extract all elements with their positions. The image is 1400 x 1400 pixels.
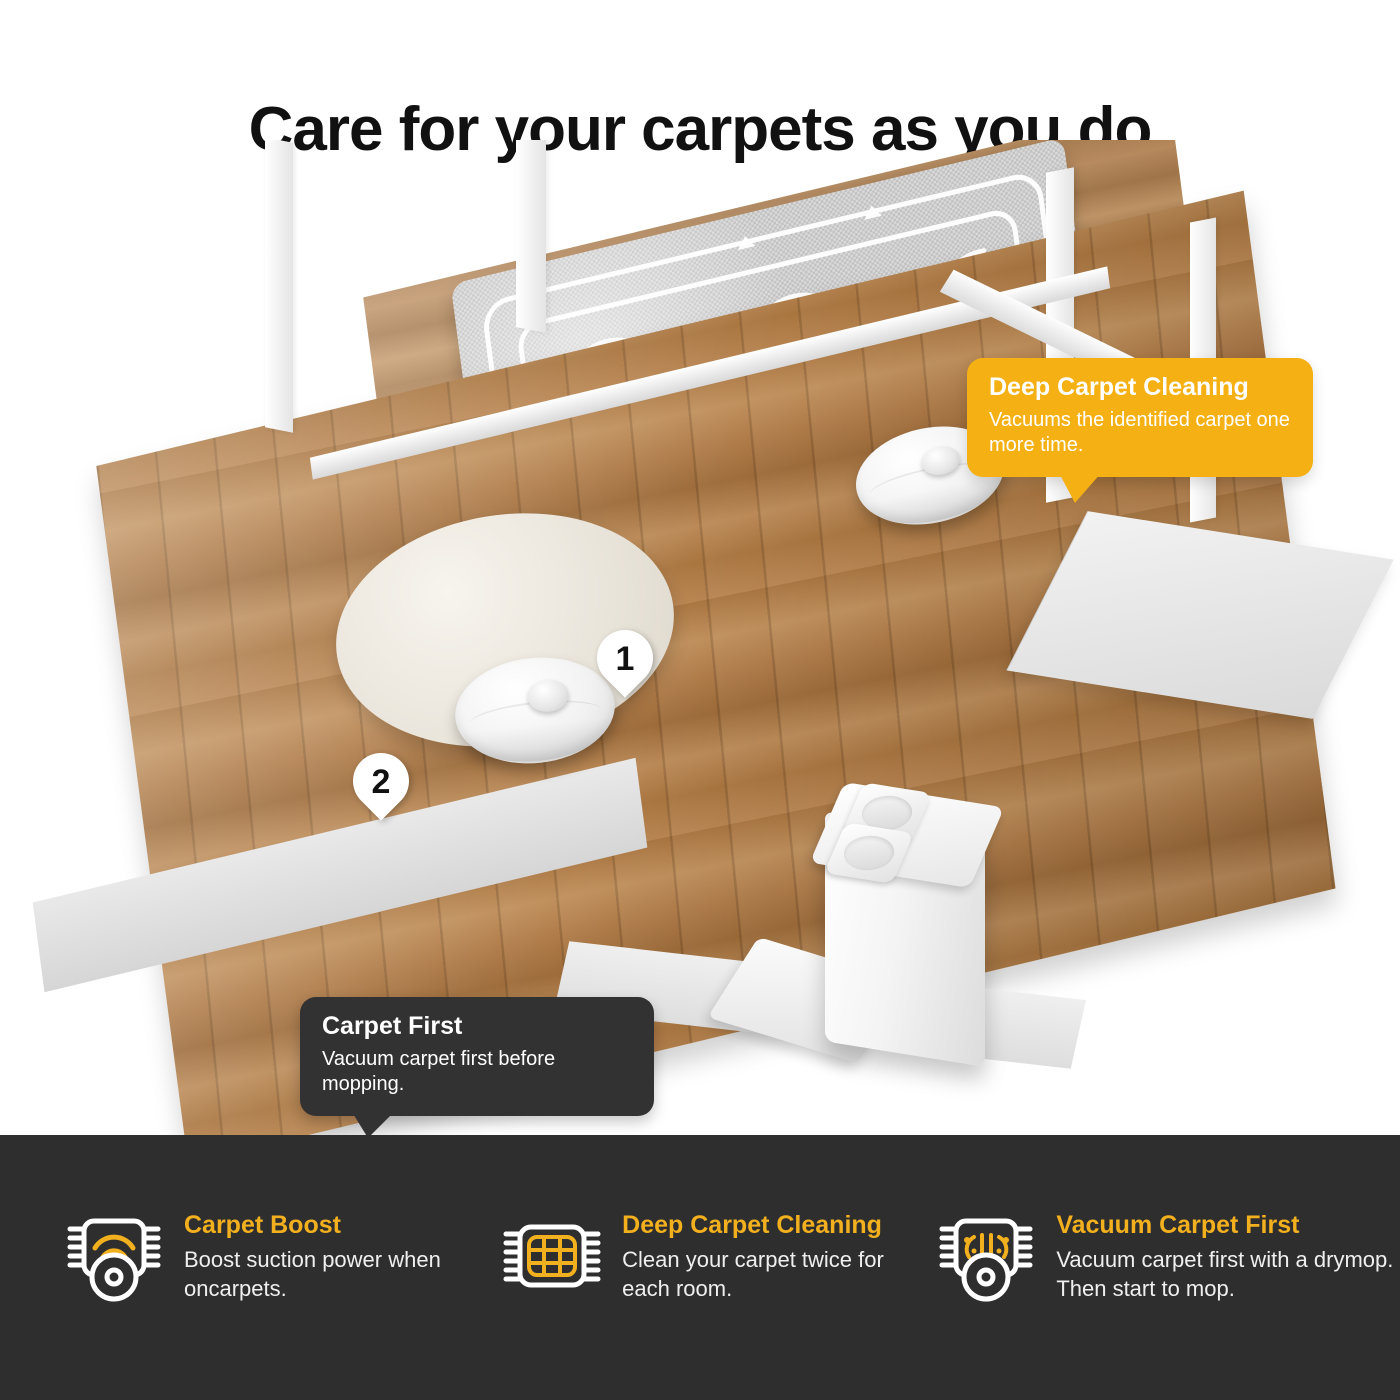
callout-carpet-first: Carpet First Vacuum carpet first before … [300,997,654,1116]
feature-carpet-boost-body: Boost suction power when oncarpets. [184,1246,478,1303]
callout-tail-dark [352,1112,394,1135]
feature-vacuum-carpet-first-body: Vacuum carpet first with a drymop. Then … [1056,1246,1400,1303]
callout-deep-carpet-cleaning: Deep Carpet Cleaning Vacuums the identif… [967,358,1313,477]
wall-post-left [265,140,293,433]
marketing-infographic: Care for your carpets as you do [0,0,1400,1400]
feature-vacuum-carpet-first: Vacuum Carpet First Vacuum carpet first … [916,1135,1400,1311]
scene-marker-2-label: 2 [353,759,409,805]
callout-tail-yellow [1055,473,1101,503]
callout-carpet-first-heading: Carpet First [322,1013,632,1041]
feature-carpet-boost: Carpet Boost Boost suction power when on… [0,1135,478,1311]
vacuum-carpet-first-icon [934,1207,1038,1311]
feature-deep-carpet-cleaning: Deep Carpet Cleaning Clean your carpet t… [478,1135,916,1311]
feature-vacuum-carpet-first-heading: Vacuum Carpet First [1056,1211,1400,1240]
callout-deep-carpet-cleaning-heading: Deep Carpet Cleaning [989,374,1291,402]
feature-deep-carpet-cleaning-body: Clean your carpet twice for each room. [622,1246,916,1303]
scene-marker-1-label: 1 [597,636,653,682]
callout-deep-carpet-cleaning-body: Vacuums the identified carpet one more t… [989,408,1291,459]
wall-post-mid [516,140,546,333]
scene-marker-1: 1 [597,630,653,702]
deep-carpet-cleaning-icon [500,1207,604,1311]
scene-marker-2: 2 [353,753,409,825]
product-scene: 1 2 Deep Carpet Cleaning Vacuums the ide… [0,140,1400,1135]
feature-bar: Carpet Boost Boost suction power when on… [0,1135,1400,1400]
feature-carpet-boost-heading: Carpet Boost [184,1211,478,1240]
robot-vacuum-on-rug [450,650,620,771]
dock-station [805,780,1015,1070]
callout-carpet-first-body: Vacuum carpet first before mopping. [322,1047,632,1098]
feature-deep-carpet-cleaning-heading: Deep Carpet Cleaning [622,1211,916,1240]
carpet-boost-icon [62,1207,166,1311]
